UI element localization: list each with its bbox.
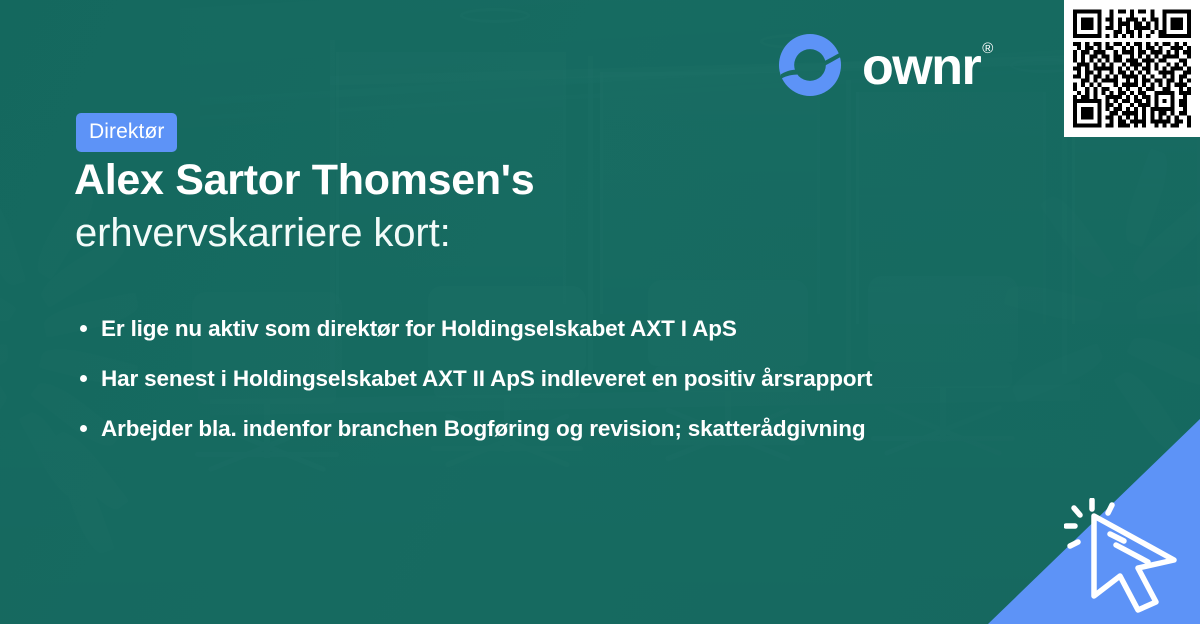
career-card: Direktør Alex Sartor Thomsen's erhvervsk…: [0, 0, 1200, 624]
career-facts-list: Er lige nu aktiv som direktør for Holdin…: [76, 312, 1016, 463]
qr-code-panel[interactable]: [1064, 0, 1200, 137]
page-subtitle: erhvervskarriere kort:: [75, 211, 451, 255]
page-title: Alex Sartor Thomsen's: [74, 158, 534, 203]
role-badge: Direktør: [76, 113, 177, 152]
bullet-dot-icon: [80, 375, 87, 382]
ownr-wordmark-text: ownr: [862, 38, 980, 96]
click-cursor-icon: [1064, 498, 1190, 616]
ownr-circle-mark-icon: [777, 32, 843, 98]
bullet-dot-icon: [80, 425, 87, 432]
list-item: Har senest i Holdingselskabet AXT II ApS…: [76, 362, 1016, 396]
bullet-dot-icon: [80, 325, 87, 332]
list-item: Arbejder bla. indenfor branchen Bogførin…: [76, 412, 1016, 446]
registered-trademark-icon: ®: [982, 40, 993, 57]
qr-code-icon[interactable]: [1073, 9, 1191, 128]
list-item: Er lige nu aktiv som direktør for Holdin…: [76, 312, 1016, 346]
list-item-label: Arbejder bla. indenfor branchen Bogførin…: [101, 412, 901, 446]
ownr-wordmark: ownr®: [862, 41, 991, 93]
list-item-label: Er lige nu aktiv som direktør for Holdin…: [101, 312, 901, 346]
ownr-logo: ownr®: [777, 32, 991, 98]
list-item-label: Har senest i Holdingselskabet AXT II ApS…: [101, 362, 901, 396]
